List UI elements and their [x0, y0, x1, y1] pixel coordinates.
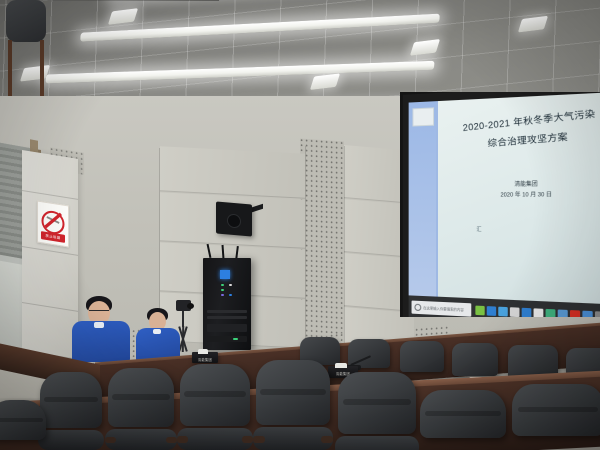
taskbar-app-icon[interactable]: [570, 310, 580, 317]
chair-front[interactable]: [108, 368, 174, 450]
chair-front[interactable]: [256, 360, 330, 450]
taskbar-search-placeholder: 在这里输入你要搜索的内容: [423, 305, 464, 312]
acoustic-perforated-panel: [300, 138, 344, 346]
taskbar-app-icon[interactable]: [498, 306, 508, 316]
tissue-box-label: 清能集团: [192, 357, 218, 362]
presentation-app-window[interactable]: 2020-2021 年秋冬季大气污染 综合治理攻坚方案 清能集团 2020 年 …: [409, 92, 600, 317]
no-smoking-label-bar: 禁止吸烟: [41, 231, 65, 243]
chair-front[interactable]: [420, 390, 506, 450]
slide-thumbnail[interactable]: [413, 107, 435, 126]
tissue-box: 清能集团: [192, 352, 218, 363]
conference-room-photo: 禁止吸烟 2020-2021 年秋冬季大气污染 综合治理攻坚方案 清能集团 20…: [0, 0, 600, 450]
taskbar-app-icon[interactable]: [546, 308, 556, 317]
taskbar-app-icon[interactable]: [475, 305, 484, 315]
projection-screen[interactable]: 2020-2021 年秋冬季大气污染 综合治理攻坚方案 清能集团 2020 年 …: [400, 92, 600, 317]
taskbar-search-input[interactable]: 在这里输入你要搜索的内容: [412, 300, 472, 316]
wall-panel: [160, 146, 305, 199]
slide-footnote: 汇: [476, 226, 481, 233]
collar: [94, 322, 104, 328]
slide-thumbnail-panel[interactable]: [409, 101, 436, 296]
chair-front[interactable]: [512, 384, 600, 450]
slide-organization: 清能集团: [438, 178, 600, 188]
no-smoking-sign: 禁止吸烟: [37, 200, 69, 247]
chair-front[interactable]: [180, 364, 250, 450]
current-slide: 2020-2021 年秋冬季大气污染 综合治理攻坚方案 清能集团 2020 年 …: [438, 92, 600, 305]
slide-date: 2020 年 10 月 30 日: [438, 189, 600, 199]
taskbar-app-icon[interactable]: [510, 307, 520, 317]
chair-front[interactable]: [40, 372, 102, 450]
wall-speaker: [216, 201, 252, 236]
taskbar-app-icon[interactable]: [558, 309, 568, 317]
no-smoking-label: 禁止吸烟: [41, 231, 65, 243]
glasses-icon: [89, 310, 109, 314]
taskbar-app-icon[interactable]: [595, 311, 600, 317]
av-equipment-rack[interactable]: [203, 258, 251, 350]
taskbar-app-icon[interactable]: [534, 308, 544, 317]
search-icon: [414, 303, 421, 310]
taskbar-app-icon[interactable]: [487, 306, 496, 316]
chair-far[interactable]: [400, 341, 444, 372]
chair-front[interactable]: [0, 400, 46, 450]
chair-front[interactable]: [338, 372, 416, 450]
person-presenter-left: [72, 296, 130, 362]
taskbar-app-icon[interactable]: [582, 310, 592, 317]
chair-far[interactable]: [452, 343, 498, 376]
rack-display: [220, 270, 230, 279]
collar: [153, 329, 161, 334]
person-attendee-right: [136, 308, 180, 362]
taskbar-app-icon[interactable]: [522, 307, 532, 317]
taskbar-icons[interactable]: [475, 305, 600, 317]
projection-screen-area: 2020-2021 年秋冬季大气污染 综合治理攻坚方案 清能集团 2020 年 …: [400, 92, 600, 317]
